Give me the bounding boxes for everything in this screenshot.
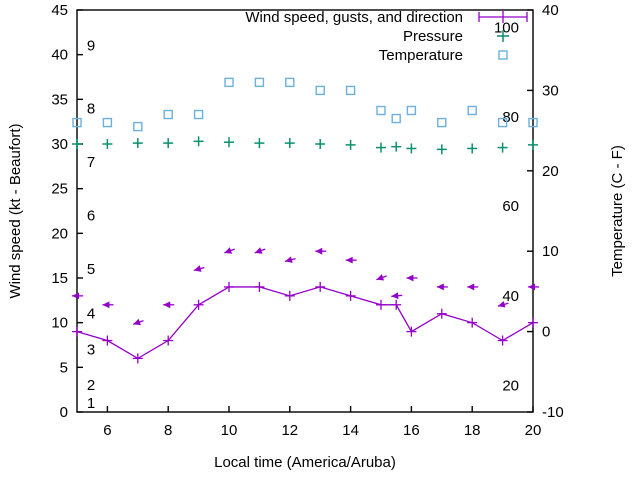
wind-barb [406, 275, 417, 282]
x-axis-ticks: 68101214161820 [103, 406, 541, 439]
y-axis-left-ticks: 051015202530354045 [51, 2, 83, 421]
beaufort-inner-labels: 123456789 [87, 38, 95, 412]
temperature-point [286, 78, 294, 86]
temperature-point [255, 78, 263, 86]
temperature-point [195, 111, 203, 119]
wind-barb [133, 319, 143, 325]
y2-tick-label: 30 [542, 82, 559, 99]
beaufort-label: 5 [87, 261, 95, 278]
y2-tick-label: 40 [542, 2, 559, 19]
y-tick-label: 25 [51, 181, 68, 198]
y-tick-label: 30 [51, 136, 68, 153]
y-axis-right-title: Temperature (C - F) [609, 145, 626, 277]
temperature-point [103, 119, 111, 127]
x-tick-label: 20 [525, 422, 542, 439]
wind-speed-series [72, 282, 538, 363]
temperature-point [377, 107, 385, 115]
beaufort-label: 4 [87, 306, 95, 323]
temperature-point [316, 86, 324, 94]
x-tick-label: 16 [403, 422, 420, 439]
y-tick-label: 5 [60, 359, 68, 376]
beaufort-label: 7 [87, 154, 95, 171]
legend-item-temperature-marker [499, 51, 507, 59]
x-tick-label: 14 [342, 422, 359, 439]
y2-tick-label: 0 [542, 324, 550, 341]
wind-barb-head [346, 257, 353, 264]
wind-barb [467, 284, 478, 291]
wind-barb [72, 292, 83, 299]
pressure-series [72, 136, 538, 154]
wind-barb-head [528, 284, 535, 291]
temperature-point [392, 115, 400, 123]
fahrenheit-label: 100 [494, 20, 519, 37]
wind-barb-head [163, 301, 170, 308]
fahrenheit-label: 80 [502, 109, 519, 126]
wind-barb [255, 247, 265, 253]
y-tick-label: 10 [51, 315, 68, 332]
temperature-point [347, 86, 355, 94]
y-tick-label: 45 [51, 2, 68, 19]
wind-barb [437, 284, 448, 291]
x-tick-label: 6 [103, 422, 111, 439]
fahrenheit-label: 20 [502, 377, 519, 394]
temperature-point [438, 119, 446, 127]
beaufort-label: 6 [87, 207, 95, 224]
wind-barb [285, 256, 296, 263]
wind-barb-head [437, 284, 444, 291]
x-tick-label: 10 [221, 422, 238, 439]
wind-barb [194, 265, 205, 272]
temperature-point [164, 111, 172, 119]
beaufort-label: 8 [87, 100, 95, 117]
wind-barb [346, 257, 357, 264]
temperature-point [134, 123, 142, 131]
y2-tick-label: 10 [542, 243, 559, 260]
wind-barb [376, 274, 386, 280]
wind-speed-line [77, 287, 533, 358]
plot-frame [77, 10, 533, 412]
wind-barb-head [315, 248, 322, 255]
temperature-point [407, 107, 415, 115]
x-tick-label: 8 [164, 422, 172, 439]
wind-barb-head [72, 292, 79, 299]
chart-canvas: 68101214161820 051015202530354045 -10010… [0, 0, 640, 480]
wind-barb [391, 292, 402, 299]
fahrenheit-label: 40 [502, 288, 519, 305]
wind-barb-head [285, 256, 293, 263]
wind-barb-head [102, 301, 109, 308]
y-tick-label: 20 [51, 225, 68, 242]
meteogram-chart: 68101214161820 051015202530354045 -10010… [0, 0, 640, 480]
y2-tick-label: -10 [542, 404, 564, 421]
fahrenheit-label: 60 [502, 198, 519, 215]
y2-tick-label: 20 [542, 163, 559, 180]
wind-barb-head [467, 284, 474, 291]
wind-barb [102, 301, 113, 308]
wind-barb [528, 284, 539, 291]
legend-item-wind-marker [479, 11, 527, 23]
wind-barb [315, 248, 326, 255]
legend-item-pressure-label: Pressure [403, 28, 463, 45]
beaufort-label: 9 [87, 38, 95, 55]
wind-barb-head [406, 275, 413, 282]
y-tick-label: 0 [60, 404, 68, 421]
x-tick-label: 12 [281, 422, 298, 439]
beaufort-label: 2 [87, 377, 95, 394]
wind-direction-barbs [72, 247, 539, 325]
legend: Wind speed, gusts, and direction Pressur… [245, 9, 527, 64]
y-tick-label: 15 [51, 270, 68, 287]
legend-item-temperature-label: Temperature [379, 47, 463, 64]
y-axis-left-title: Wind speed (kt - Beaufort) [7, 123, 24, 298]
wind-barb-head [391, 292, 398, 299]
wind-barb [163, 301, 174, 308]
y-tick-label: 35 [51, 91, 68, 108]
legend-item-wind-label: Wind speed, gusts, and direction [245, 9, 463, 26]
temperature-point [225, 78, 233, 86]
beaufort-label: 1 [87, 395, 95, 412]
beaufort-label: 3 [87, 341, 95, 358]
x-axis-title: Local time (America/Aruba) [214, 454, 396, 471]
temperature-series [73, 78, 537, 130]
temperature-point [468, 107, 476, 115]
x-tick-label: 18 [464, 422, 481, 439]
y-tick-label: 40 [51, 47, 68, 64]
wind-barb-head [194, 265, 202, 272]
wind-barb [224, 247, 234, 253]
